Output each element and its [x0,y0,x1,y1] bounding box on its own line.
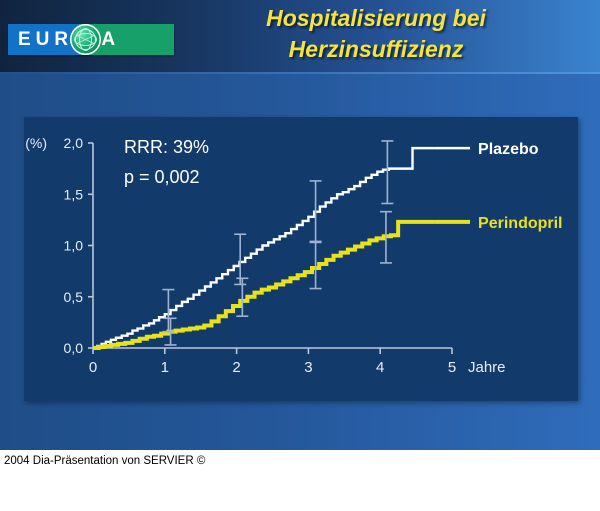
footer-credit: 2004 Dia-Präsentation von SERVIER © [4,455,205,467]
legend-item-perindopril: Perindopril [434,215,562,232]
chart-legend: PlazeboPerindopril [434,141,562,232]
logo-left-text: EUR [18,30,73,49]
slide-canvas: EUR PA Hospitalisierung bei Herzinsuffiz… [0,0,600,450]
y-tick-label: 1,5 [64,186,84,202]
legend-item-plazebo: Plazebo [434,141,539,158]
y-axis-unit-label: (%) [25,135,47,151]
annotation-pvalue: p = 0,002 [124,167,200,187]
y-tick-label: 0,5 [64,289,84,305]
x-axis-label: Jahre [468,359,506,376]
chart-axes: 0,00,51,01,52,0(%)012345Jahre [25,135,505,376]
x-tick-label: 0 [89,359,97,376]
survival-curve-chart: 0,00,51,01,52,0(%)012345Jahre RRR: 39%p … [24,117,578,401]
chart-panel: 0,00,51,01,52,0(%)012345Jahre RRR: 39%p … [24,117,578,401]
x-tick-label: 3 [304,359,312,376]
y-tick-label: 2,0 [64,135,84,151]
europa-logo: EUR PA [8,24,174,55]
chart-annotations: RRR: 39%p = 0,002 [124,137,209,187]
y-tick-label: 1,0 [64,238,84,254]
title-line-1: Hospitalisierung bei [196,3,556,34]
x-tick-label: 1 [161,359,169,376]
legend-label: Plazebo [478,141,539,158]
x-tick-label: 4 [376,359,384,376]
legend-label: Perindopril [478,215,562,232]
x-tick-label: 2 [232,359,240,376]
globe-icon [70,24,101,55]
logo-left-block: EUR [8,24,79,55]
y-tick-label: 0,0 [64,340,84,356]
x-tick-label: 5 [448,359,456,376]
header-divider [0,72,600,74]
page-title: Hospitalisierung bei Herzinsuffizienz [196,3,556,65]
title-line-2: Herzinsuffizienz [196,34,556,65]
annotation-rrr: RRR: 39% [124,137,209,157]
footer-bar: 2004 Dia-Präsentation von SERVIER © [0,450,600,511]
